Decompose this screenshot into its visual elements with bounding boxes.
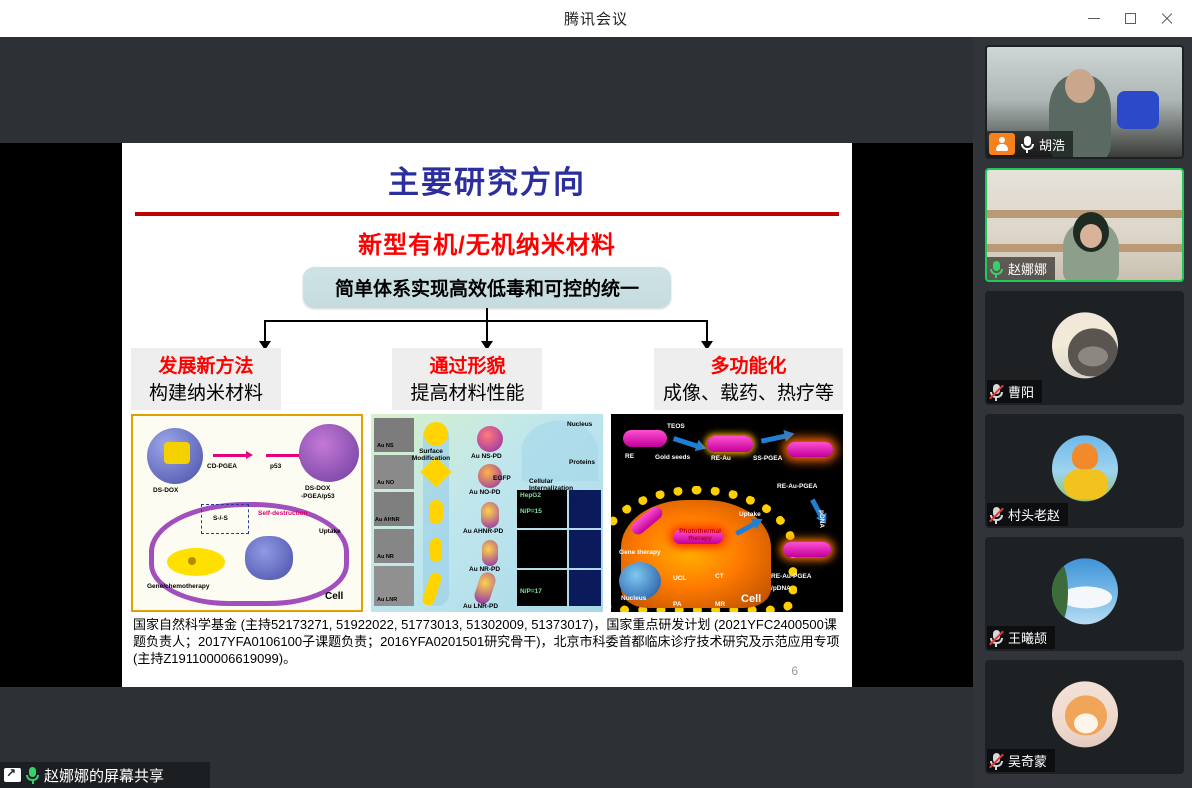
figure-label: Gold seeds xyxy=(655,455,690,462)
category-row: 发展新方法 构建纳米材料 通过形貌 提高材料性能 多功能化 成像、载药、热疗等 xyxy=(122,348,852,410)
figure-label: Au NO-PD xyxy=(469,490,500,497)
teos-arrow-icon xyxy=(673,436,699,449)
degrading-particle xyxy=(245,536,293,580)
window-title: 腾讯会议 xyxy=(0,8,1192,29)
cell-membrane-arc xyxy=(521,420,599,482)
figure-label: pDNA xyxy=(818,510,825,528)
au-nr-shape xyxy=(430,538,442,562)
figure-label: Photothermal therapy xyxy=(679,528,721,543)
figure-re-au-pgea-photothermal: RE TEOS Gold seeds RE-Au SS-PGEA RE-Au-P… xyxy=(611,414,843,612)
dapi-image-1 xyxy=(569,490,601,528)
participant-tile-huhao[interactable]: 胡浩 xyxy=(985,45,1184,159)
figure-ds-dox-gene-chemotherapy: DS-DOX CD-PGEA p53 DS-DOX -PGEA/p53 S-/-… xyxy=(131,414,363,612)
window-controls xyxy=(1076,0,1184,37)
figure-label: Cell xyxy=(325,592,343,602)
figure-label: PA xyxy=(673,602,682,609)
figure-label: UCL xyxy=(673,576,686,583)
nucleus-disc xyxy=(167,548,225,576)
screen-share-icon xyxy=(4,768,21,782)
figure-label: /pDNA xyxy=(771,586,791,593)
au-nr-pd-shape xyxy=(482,540,498,566)
figure-label: N/P=17 xyxy=(520,589,542,596)
figure-label: EGFP xyxy=(493,476,511,483)
shared-screen-stage[interactable]: 主要研究方向 新型有机/无机纳米材料 简单体系实现高效低毒和可控的统一 发展新方… xyxy=(0,37,973,788)
reaction-arrow-2-icon xyxy=(266,454,300,457)
mic-muted-icon xyxy=(989,383,1003,401)
participant-badges: 胡浩 xyxy=(987,131,1073,157)
tree-stem xyxy=(486,308,488,320)
share-banner-label: 赵娜娜的屏幕共享 xyxy=(44,765,164,786)
figure-label: Cellular Internalization xyxy=(529,478,573,493)
figure-label: TEOS xyxy=(667,424,685,431)
slide-highlight-box: 简单体系实现高效低毒和可控的统一 xyxy=(303,267,671,308)
close-button[interactable] xyxy=(1148,4,1184,34)
category-subtitle: 成像、载药、热疗等 xyxy=(663,378,834,405)
figure-label: Au AHNR xyxy=(375,518,400,524)
participant-name: 村头老赵 xyxy=(1008,505,1060,524)
dapi-image-2 xyxy=(569,530,601,568)
title-bar: 腾讯会议 xyxy=(0,0,1192,37)
dapi-image-3 xyxy=(569,570,601,606)
participant-badges: 王曦颉 xyxy=(987,626,1055,649)
au-ns-shape xyxy=(424,422,448,446)
maximize-icon xyxy=(1125,13,1136,24)
participant-tile-zhaonana[interactable]: 赵娜娜 xyxy=(985,168,1184,282)
figure-label: Au NR-PD xyxy=(469,567,500,574)
figure-label: Au LNR xyxy=(377,598,397,604)
participant-badges: 吴奇蒙 xyxy=(987,749,1055,772)
category-box-1: 发展新方法 构建纳米材料 xyxy=(131,348,281,410)
category-title: 通过形貌 xyxy=(401,351,533,378)
avatar xyxy=(1052,312,1118,378)
participant-tile-cuntoulaozhao[interactable]: 村头老赵 xyxy=(985,414,1184,528)
figure-label: Au NS xyxy=(377,444,394,450)
figure-label: Au NR xyxy=(377,555,394,561)
figure-gold-nanoparticle-morphology: Au NS Au NO Au AHNR Au NR Au LNR Surface… xyxy=(371,414,603,612)
host-badge-icon xyxy=(989,133,1015,155)
figure-label: RE-Au xyxy=(711,456,731,463)
tencent-meeting-window: 腾讯会议 主要研究方向 新型有机/无机纳米材料 简单体系实现高效低毒和可控的统一 xyxy=(0,0,1192,788)
au-lnr-pd-shape xyxy=(472,570,497,605)
re-au-rod xyxy=(707,436,753,452)
figure-label: Gene/chemotherapy xyxy=(147,584,210,591)
figure-row: DS-DOX CD-PGEA p53 DS-DOX -PGEA/p53 S-/-… xyxy=(122,410,852,612)
figure-label: SS-PGEA xyxy=(753,456,782,463)
slide-page-number: 6 xyxy=(791,664,798,678)
dox-core xyxy=(164,442,190,464)
au-ahnr-shape xyxy=(429,500,443,524)
mic-muted-icon xyxy=(989,629,1003,647)
figure-label: Nucleus xyxy=(567,422,592,429)
avatar xyxy=(1052,558,1118,624)
avatar xyxy=(1052,435,1118,501)
figure-label: Proteins xyxy=(569,460,595,467)
screen-share-banner: 赵娜娜的屏幕共享 xyxy=(0,762,210,788)
participant-name: 曹阳 xyxy=(1008,382,1034,401)
mic-on-icon xyxy=(1020,135,1034,153)
figure-label: DS-DOX xyxy=(305,486,330,493)
reaction-arrow-1-icon xyxy=(213,454,247,457)
fluorescence-image-2 xyxy=(517,530,567,568)
category-subtitle: 提高材料性能 xyxy=(401,378,533,405)
participant-panel[interactable]: 胡浩 赵娜娜 曹阳 xyxy=(973,37,1192,788)
minimize-button[interactable] xyxy=(1076,4,1112,34)
presentation-slide: 主要研究方向 新型有机/无机纳米材料 简单体系实现高效低毒和可控的统一 发展新方… xyxy=(122,143,852,687)
figure-label: RE-Au-PGEA xyxy=(771,574,811,581)
category-subtitle: 构建纳米材料 xyxy=(140,378,272,405)
figure-label: Self-destruction xyxy=(258,511,307,518)
figure-label: p53 xyxy=(270,464,281,471)
slide-subtitle: 新型有机/无机纳米材料 xyxy=(122,225,852,260)
category-box-3: 多功能化 成像、载药、热疗等 xyxy=(654,348,843,410)
avatar xyxy=(1052,681,1118,747)
mic-on-icon xyxy=(26,767,39,784)
slide-footnote: 国家自然科学基金 (主持52173271, 51922022, 51773013… xyxy=(122,612,852,667)
figure-label: Surface Modification xyxy=(411,448,451,463)
slide-divider xyxy=(135,212,839,216)
figure-label: Uptake xyxy=(319,529,341,536)
figure-label: CD-PGEA xyxy=(207,464,237,471)
figure-label: S-/-S xyxy=(213,516,228,523)
participant-name: 赵娜娜 xyxy=(1008,259,1047,278)
person-head xyxy=(1065,69,1095,103)
slide-title: 主要研究方向 xyxy=(122,157,852,202)
au-ahnr-pd-shape xyxy=(481,502,499,528)
figure-label: Cell xyxy=(741,594,761,605)
figure-label: HepG2 xyxy=(520,493,541,500)
participant-tile-wangxijie[interactable]: 王曦颉 xyxy=(985,537,1184,651)
minimize-icon xyxy=(1088,18,1100,19)
participant-name: 吴奇蒙 xyxy=(1008,751,1047,770)
category-title: 发展新方法 xyxy=(140,351,272,378)
participant-name: 胡浩 xyxy=(1039,135,1065,154)
figure-label: MR xyxy=(715,602,725,609)
mic-muted-icon xyxy=(989,752,1003,770)
category-title: 多功能化 xyxy=(663,351,834,378)
participant-badges: 曹阳 xyxy=(987,380,1042,403)
figure-label: Uptake xyxy=(739,512,761,519)
participant-tile-caoyang[interactable]: 曹阳 xyxy=(985,291,1184,405)
re-au-pgea-pdna-rod xyxy=(783,542,831,557)
ss-pgea-arrow-icon xyxy=(761,433,787,443)
participant-tile-wuqimeng[interactable]: 吴奇蒙 xyxy=(985,660,1184,774)
background-object xyxy=(1117,91,1159,129)
close-icon xyxy=(1160,12,1173,25)
nucleus-pore xyxy=(188,557,196,565)
figure-label: Nucleus xyxy=(621,596,646,603)
figure-label: RE xyxy=(625,454,634,461)
re-au-pgea-rod xyxy=(787,442,833,457)
stage-letterbox-top xyxy=(0,37,973,143)
person-face xyxy=(1080,224,1102,248)
re-rod xyxy=(623,430,667,447)
figure-label: CT xyxy=(715,574,724,581)
figure-label: N/P=15 xyxy=(520,509,542,516)
nucleus-sphere xyxy=(619,562,661,600)
figure-label: Au LNR-PD xyxy=(463,604,498,611)
participant-badges: 村头老赵 xyxy=(987,503,1068,526)
mic-on-icon xyxy=(989,260,1003,278)
mic-muted-icon xyxy=(989,506,1003,524)
figure-label: DS-DOX xyxy=(153,488,178,495)
figure-label: Au NO xyxy=(377,481,394,487)
figure-label: Gene therapy xyxy=(619,550,661,557)
figure-label: Au NS-PD xyxy=(471,454,502,461)
participant-name: 王曦颉 xyxy=(1008,628,1047,647)
participant-badges: 赵娜娜 xyxy=(987,257,1055,280)
au-ns-pd-shape xyxy=(477,426,503,452)
ds-dox-pgea-p53-particle xyxy=(299,424,359,482)
maximize-button[interactable] xyxy=(1112,4,1148,34)
figure-label: -PGEA/p53 xyxy=(301,494,335,501)
figure-label: Au AHNR-PD xyxy=(463,529,503,536)
category-box-2: 通过形貌 提高材料性能 xyxy=(392,348,542,410)
figure-label: RE-Au-PGEA xyxy=(777,484,817,491)
